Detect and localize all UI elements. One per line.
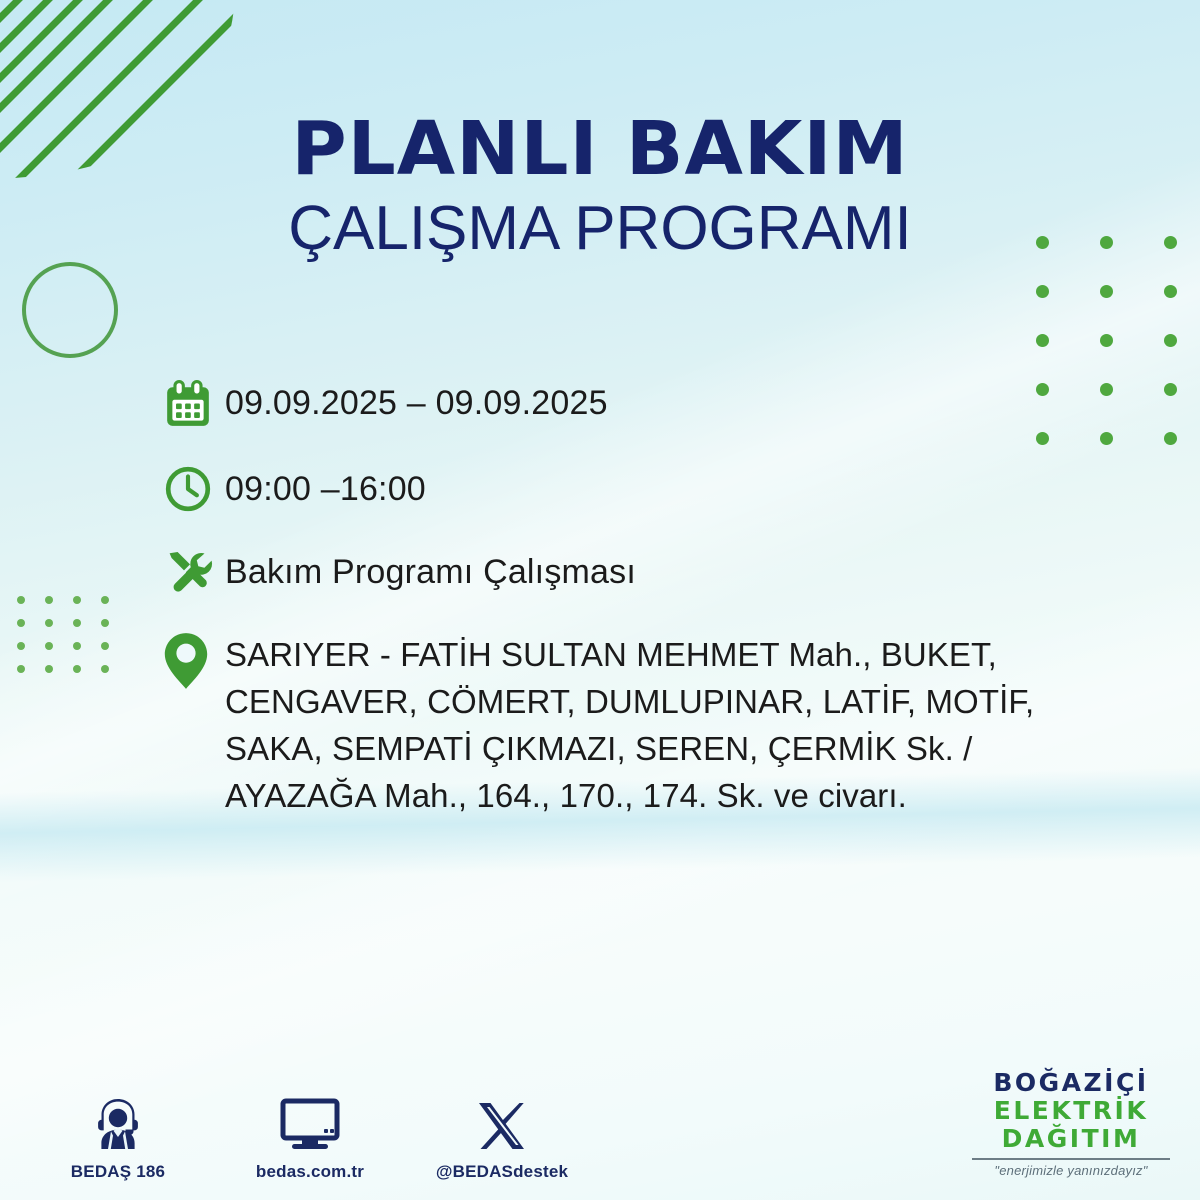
brand-logo: BOĞAZİÇİ ELEKTRİK DAĞITIM "enerjimizle y…	[966, 1069, 1176, 1178]
time-range-text: 09:00 –16:00	[225, 462, 1123, 506]
info-row-work-type: Bakım Programı Çalışması	[163, 546, 1123, 604]
contact-list: BEDAŞ 186 bedas.com.tr	[48, 1094, 572, 1182]
monitor-icon	[280, 1094, 340, 1152]
brand-divider	[972, 1158, 1170, 1160]
work-type-text: Bakım Programı Çalışması	[225, 546, 1123, 589]
call-center-agent-icon	[89, 1094, 147, 1152]
page-subtitle: ÇALIŞMA PROGRAMI	[0, 198, 1200, 260]
location-text: SARIYER - FATİH SULTAN MEHMET Mah., BUKE…	[225, 630, 1123, 819]
info-list: 09.09.2025 – 09.09.2025 09:00 –16:00	[163, 378, 1123, 819]
circle-outline-decoration	[22, 262, 118, 358]
brand-line-3: DAĞITIM	[966, 1125, 1176, 1153]
location-pin-icon	[163, 630, 225, 688]
contact-phone[interactable]: BEDAŞ 186	[48, 1094, 188, 1182]
page-title: PLANLI BAKIM	[0, 112, 1200, 186]
x-social-icon	[475, 1094, 529, 1152]
brand-line-2: ELEKTRİK	[966, 1097, 1176, 1125]
brand-line-1: BOĞAZİÇİ	[966, 1069, 1176, 1097]
calendar-icon	[163, 378, 225, 436]
clock-icon	[163, 462, 225, 520]
contact-website-label: bedas.com.tr	[256, 1162, 364, 1182]
dot-grid-left-decoration	[17, 596, 129, 688]
tools-icon	[163, 546, 225, 604]
contact-website[interactable]: bedas.com.tr	[240, 1094, 380, 1182]
page-title-block: PLANLI BAKIM ÇALIŞMA PROGRAMI	[0, 112, 1200, 260]
info-row-date: 09.09.2025 – 09.09.2025	[163, 378, 1123, 436]
footer: BEDAŞ 186 bedas.com.tr	[0, 1040, 1200, 1200]
brand-tagline: "enerjimizle yanınızdayız"	[966, 1163, 1176, 1178]
info-row-location: SARIYER - FATİH SULTAN MEHMET Mah., BUKE…	[163, 630, 1123, 819]
date-range-text: 09.09.2025 – 09.09.2025	[225, 378, 1123, 420]
contact-phone-label: BEDAŞ 186	[71, 1162, 165, 1182]
contact-social-label: @BEDASdestek	[436, 1162, 568, 1182]
contact-social[interactable]: @BEDASdestek	[432, 1094, 572, 1182]
planned-maintenance-poster: PLANLI BAKIM ÇALIŞMA PROGRAMI	[0, 0, 1200, 1200]
info-row-time: 09:00 –16:00	[163, 462, 1123, 520]
